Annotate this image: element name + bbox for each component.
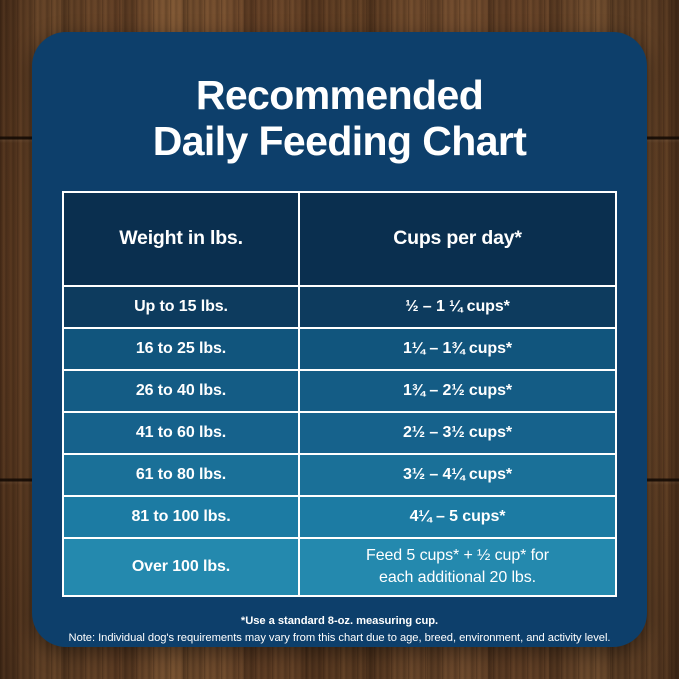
column-header-cups: Cups per day* xyxy=(299,192,616,286)
table-row: Up to 15 lbs. ½ – 1 ¼ cups* xyxy=(63,286,616,328)
table-row: 26 to 40 lbs. 1¾ – 2½ cups* xyxy=(63,370,616,412)
footnote-note: Note: Individual dog's requirements may … xyxy=(55,630,625,647)
cell-cups: 3½ – 4¼ cups* xyxy=(299,454,616,496)
cell-cups: 2½ – 3½ cups* xyxy=(299,412,616,454)
table-row: 61 to 80 lbs. 3½ – 4¼ cups* xyxy=(63,454,616,496)
table-header-row: Weight in lbs. Cups per day* xyxy=(63,192,616,286)
cell-cups: ½ – 1 ¼ cups* xyxy=(299,286,616,328)
cell-cups: 1¼ – 1¾ cups* xyxy=(299,328,616,370)
cell-cups: Feed 5 cups* + ½ cup* for each additiona… xyxy=(299,538,616,596)
table-row: 81 to 100 lbs. 4¼ – 5 cups* xyxy=(63,496,616,538)
cell-weight: 81 to 100 lbs. xyxy=(63,496,299,538)
page-title-line-1: Recommended xyxy=(72,72,607,118)
table-row: 41 to 60 lbs. 2½ – 3½ cups* xyxy=(63,412,616,454)
cell-weight: 26 to 40 lbs. xyxy=(63,370,299,412)
cell-weight: 61 to 80 lbs. xyxy=(63,454,299,496)
page-title: Recommended Daily Feeding Chart xyxy=(32,32,647,165)
table-row: Over 100 lbs. Feed 5 cups* + ½ cup* for … xyxy=(63,538,616,596)
footnotes: *Use a standard 8-oz. measuring cup. Not… xyxy=(55,613,625,647)
feeding-chart-card: Recommended Daily Feeding Chart Weight i… xyxy=(32,32,647,647)
cell-weight: 41 to 60 lbs. xyxy=(63,412,299,454)
cell-cups-line-1: Feed 5 cups* + ½ cup* for xyxy=(300,545,615,567)
cell-cups: 4¼ – 5 cups* xyxy=(299,496,616,538)
cell-cups: 1¾ – 2½ cups* xyxy=(299,370,616,412)
page-title-line-2: Daily Feeding Chart xyxy=(72,118,607,164)
cell-weight: Over 100 lbs. xyxy=(63,538,299,596)
footnote-measuring-cup: *Use a standard 8-oz. measuring cup. xyxy=(55,613,625,630)
cell-cups-line-2: each additional 20 lbs. xyxy=(300,567,615,589)
cell-weight: 16 to 25 lbs. xyxy=(63,328,299,370)
feeding-chart-table: Weight in lbs. Cups per day* Up to 15 lb… xyxy=(62,191,617,597)
column-header-weight: Weight in lbs. xyxy=(63,192,299,286)
table-body: Up to 15 lbs. ½ – 1 ¼ cups* 16 to 25 lbs… xyxy=(63,286,616,596)
cell-weight: Up to 15 lbs. xyxy=(63,286,299,328)
table-header: Weight in lbs. Cups per day* xyxy=(63,192,616,286)
table-row: 16 to 25 lbs. 1¼ – 1¾ cups* xyxy=(63,328,616,370)
